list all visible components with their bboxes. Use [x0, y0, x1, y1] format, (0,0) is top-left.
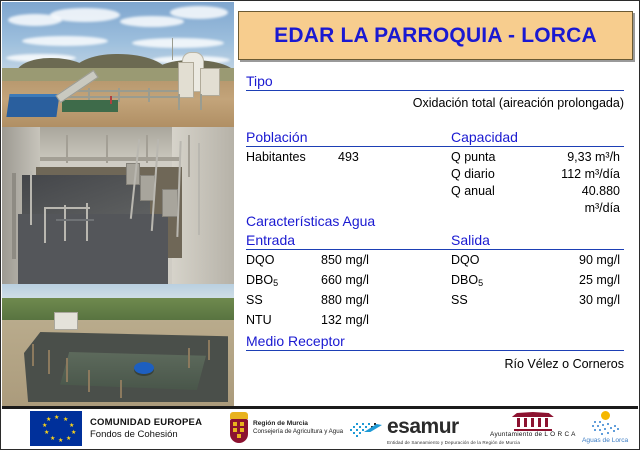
capacidad-label-0: Q punta: [451, 149, 543, 166]
entrada-label-2: SS: [246, 293, 263, 307]
aguas-logo-block: Aguas de Lorca: [582, 411, 628, 444]
lorca-label: Ayuntamiento de L O R C A: [490, 431, 576, 438]
esamur-mark-icon: [350, 421, 384, 439]
capacidad-label-1: Q diario: [451, 166, 543, 183]
photo-column: [2, 2, 234, 406]
capacidad-value-1: 112 m³/día: [543, 166, 624, 183]
entrada-value-3: 132 mg/l: [321, 312, 391, 332]
poblacion-heading: Población: [246, 129, 451, 145]
entrada-label-1: DBO: [246, 273, 273, 287]
aguas-label: Aguas de Lorca: [582, 437, 628, 444]
table-row: NTU 132 mg/l: [246, 312, 451, 332]
table-row: Q anual 40.880 m³/día: [451, 183, 624, 217]
murcia-logo-block: Región de Murcia Consejería de Agricultu…: [230, 412, 343, 443]
slide-title-banner: EDAR LA PARROQUIA - LORCA: [238, 11, 633, 60]
table-row: SS 30 mg/l: [451, 292, 624, 312]
eu-logo-block: ★ ★ ★ ★ ★ ★ ★ ★ ★ ★ COMUNIDAD EUROPEA Fo…: [30, 411, 202, 446]
murcia-line2: Consejería de Agricultura y Agua: [253, 428, 343, 435]
lined-lagoon-photo: [2, 284, 234, 406]
tank-interior-photo: [2, 127, 234, 285]
salida-value-2: 30 mg/l: [543, 292, 624, 312]
salida-value-1: 25 mg/l: [543, 272, 624, 292]
page-title: EDAR LA PARROQUIA - LORCA: [274, 24, 597, 48]
poblacion-row-label: Habitantes: [246, 149, 338, 166]
entrada-label-3: NTU: [246, 313, 272, 327]
lorca-building-icon: [512, 412, 554, 429]
salida-sub-1: 5: [478, 278, 483, 288]
entrada-label-0: DQO: [246, 253, 274, 267]
capacidad-label-2: Q anual: [451, 183, 543, 217]
eu-line2: Fondos de Cohesión: [90, 429, 178, 440]
tipo-heading: Tipo: [246, 73, 624, 91]
table-row: Q diario 112 m³/día: [451, 166, 624, 183]
plant-exterior-photo: [2, 2, 234, 128]
table-row: DBO5 660 mg/l: [246, 272, 451, 292]
entrada-value-0: 850 mg/l: [321, 252, 391, 272]
table-row: Q punta 9,33 m³/h: [451, 149, 624, 166]
section-poblacion-capacidad: Población Capacidad Habitantes 493 Q pun…: [246, 129, 624, 217]
eu-logo-text: COMUNIDAD EUROPEA Fondos de Cohesión: [90, 417, 202, 441]
salida-label-1: DBO: [451, 273, 478, 287]
section-medio-receptor: Medio Receptor Río Vélez o Corneros: [246, 333, 624, 374]
tipo-value: Oxidación total (aireación prolongada): [246, 94, 624, 113]
capacidad-table: Q punta 9,33 m³/h Q diario 112 m³/día Q …: [451, 149, 624, 217]
entrada-heading: Entrada: [246, 232, 451, 248]
table-row: DQO 90 mg/l: [451, 252, 624, 272]
salida-value-0: 90 mg/l: [543, 252, 624, 272]
eu-flag-icon: ★ ★ ★ ★ ★ ★ ★ ★ ★ ★: [30, 411, 82, 446]
entrada-sub-1: 5: [273, 278, 278, 288]
murcia-line1: Región de Murcia: [253, 420, 308, 427]
salida-label-2: SS: [451, 293, 468, 307]
capacidad-heading: Capacidad: [451, 129, 518, 145]
table-row: DQO 850 mg/l: [246, 252, 451, 272]
caracteristicas-heading: Características Agua: [246, 213, 624, 229]
capacidad-value-0: 9,33 m³/h: [543, 149, 624, 166]
lorca-logo-block: Ayuntamiento de L O R C A: [490, 412, 576, 438]
slide-page: EDAR LA PARROQUIA - LORCA Tipo Oxidación…: [0, 0, 640, 450]
table-row: SS 880 mg/l: [246, 292, 451, 312]
esamur-tagline: Entidad de Saneamiento y Depuración de l…: [387, 440, 520, 445]
section-caracteristicas-agua: Características Agua Entrada Salida DQO …: [246, 213, 624, 332]
murcia-shield-icon: [230, 412, 248, 443]
salida-heading: Salida: [451, 232, 490, 248]
footer-logos: ★ ★ ★ ★ ★ ★ ★ ★ ★ ★ COMUNIDAD EUROPEA Fo…: [2, 409, 638, 449]
poblacion-table: Habitantes 493: [246, 149, 451, 217]
info-panel: Tipo Oxidación total (aireación prolonga…: [246, 73, 624, 393]
capacidad-value-2: 40.880 m³/día: [543, 183, 624, 217]
salida-table: DQO 90 mg/l DBO5 25 mg/l SS 30 mg/l: [451, 252, 624, 332]
poblacion-row-value: 493: [338, 149, 359, 166]
medio-receptor-heading: Medio Receptor: [246, 333, 624, 351]
eu-line1: COMUNIDAD EUROPEA: [90, 417, 202, 428]
table-row: Habitantes 493: [246, 149, 451, 166]
entrada-value-2: 880 mg/l: [321, 292, 391, 312]
entrada-table: DQO 850 mg/l DBO5 660 mg/l SS 880 mg/l N…: [246, 252, 451, 332]
medio-receptor-value: Río Vélez o Corneros: [246, 355, 624, 374]
aguas-sun-spray-icon: [590, 411, 620, 435]
section-tipo: Tipo Oxidación total (aireación prolonga…: [246, 73, 624, 113]
entrada-value-1: 660 mg/l: [321, 272, 391, 292]
salida-label-0: DQO: [451, 253, 479, 267]
table-row: DBO5 25 mg/l: [451, 272, 624, 292]
murcia-logo-text: Región de Murcia Consejería de Agricultu…: [253, 420, 343, 436]
